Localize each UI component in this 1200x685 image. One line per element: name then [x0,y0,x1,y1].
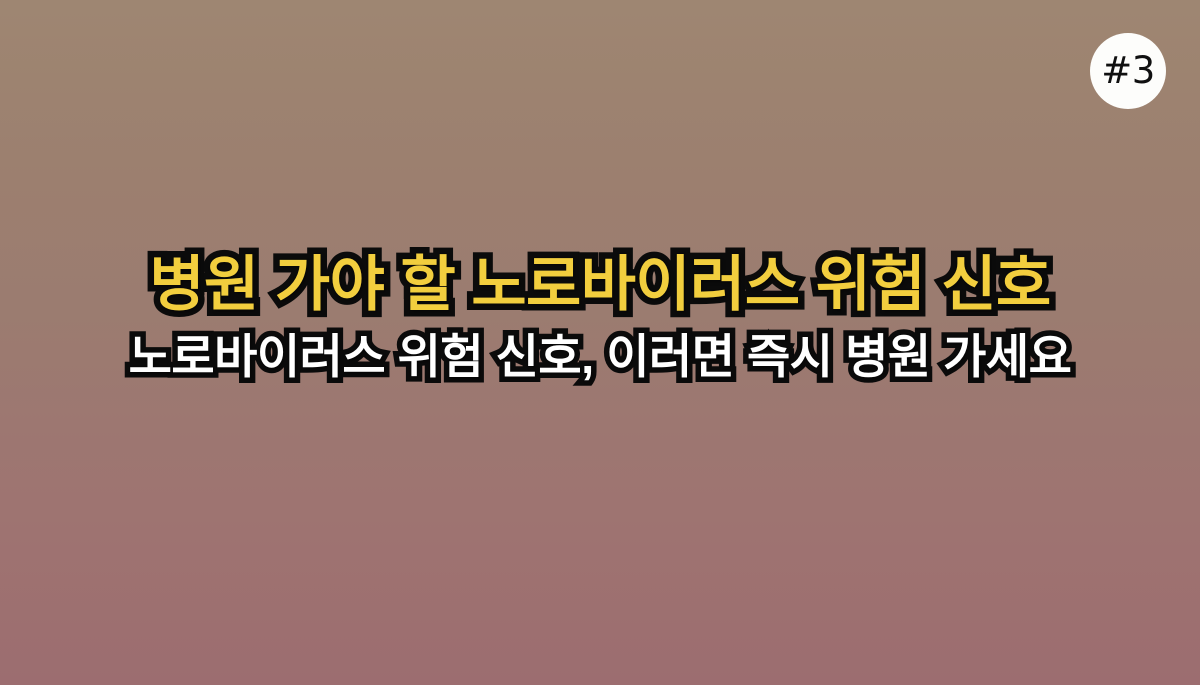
slide-index-badge: #3 [1090,33,1166,109]
caption-subtitle: 노로바이러스 위험 신호, 이러면 즉시 병원 가세요 [0,324,1200,390]
slide-canvas: #3 병원 가야 할 노로바이러스 위험 신호 노로바이러스 위험 신호, 이러… [0,0,1200,685]
caption-block: 병원 가야 할 노로바이러스 위험 신호 노로바이러스 위험 신호, 이러면 즉… [0,246,1200,390]
slide-index-badge-label: #3 [1101,52,1155,89]
caption-title: 병원 가야 할 노로바이러스 위험 신호 [0,246,1200,324]
